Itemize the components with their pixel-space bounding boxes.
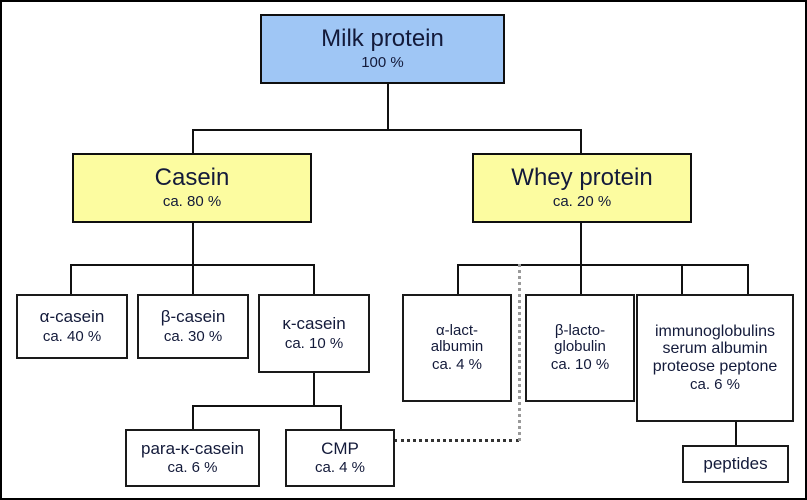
- connector-to-beta-lactoglobulin: [580, 264, 582, 294]
- milk-protein-diagram: Milk protein 100 % Casein ca. 80 % Whey …: [0, 0, 807, 500]
- node-peptides[interactable]: peptides: [682, 445, 789, 483]
- node-para-kappa-casein[interactable]: para-κ-casein ca. 6 %: [125, 429, 260, 487]
- node-beta-lactoglobulin-line2: globulin: [554, 339, 606, 355]
- node-whey-protein-label: Whey protein: [511, 165, 652, 191]
- node-beta-casein[interactable]: β-casein ca. 30 %: [137, 294, 249, 359]
- node-cmp-label: CMP: [321, 440, 359, 458]
- node-whey-protein-percent: ca. 20 %: [553, 194, 611, 210]
- node-alpha-lactalbumin-line2: albumin: [431, 339, 484, 355]
- connector-level2-bus: [192, 129, 582, 131]
- connector-to-para-kappa-casein: [192, 405, 194, 429]
- connector-to-cmp: [340, 405, 342, 429]
- node-whey-protein[interactable]: Whey protein ca. 20 %: [472, 153, 692, 223]
- node-casein-percent: ca. 80 %: [163, 194, 221, 210]
- node-alpha-lactalbumin-percent: ca. 4 %: [432, 357, 482, 373]
- node-alpha-lactalbumin[interactable]: α-lact- albumin ca. 4 %: [402, 294, 512, 402]
- connector-to-alpha-lactalbumin: [457, 264, 459, 294]
- node-kappa-casein-label: κ-casein: [282, 315, 345, 333]
- node-para-kappa-casein-percent: ca. 6 %: [167, 460, 217, 476]
- node-alpha-casein-label: α-casein: [40, 308, 105, 326]
- connector-root-stem: [387, 83, 389, 130]
- connector-to-alpha-casein: [70, 264, 72, 294]
- connector-whey-stem: [580, 222, 582, 265]
- node-immunoglobulins-percent: ca. 6 %: [690, 377, 740, 393]
- node-beta-lactoglobulin[interactable]: β-lacto- globulin ca. 10 %: [525, 294, 635, 402]
- node-immunoglobulins-line1: immunoglobulins: [655, 323, 775, 340]
- node-cmp-percent: ca. 4 %: [315, 460, 365, 476]
- node-immunoglobulins[interactable]: immunoglobulins serum albumin proteose p…: [636, 294, 794, 422]
- node-kappa-casein[interactable]: κ-casein ca. 10 %: [258, 294, 370, 373]
- connector-casein-stem: [192, 222, 194, 265]
- node-immunoglobulins-line2: serum albumin: [663, 340, 768, 357]
- connector-to-casein: [192, 129, 194, 153]
- node-alpha-casein[interactable]: α-casein ca. 40 %: [16, 294, 128, 359]
- node-kappa-casein-percent: ca. 10 %: [285, 336, 343, 352]
- node-casein[interactable]: Casein ca. 80 %: [72, 153, 312, 223]
- connector-whey-bus: [457, 264, 747, 266]
- connector-to-peptides: [735, 422, 737, 446]
- connector-to-whey: [580, 129, 582, 153]
- connector-to-beta-casein: [192, 264, 194, 294]
- connector-kappa-stem: [313, 373, 315, 406]
- node-peptides-label: peptides: [703, 455, 767, 473]
- node-milk-protein-label: Milk protein: [321, 26, 444, 52]
- node-beta-casein-percent: ca. 30 %: [164, 329, 222, 345]
- connector-kappa-bus: [192, 405, 342, 407]
- node-beta-lactoglobulin-line1: β-lacto-: [555, 323, 605, 339]
- node-milk-protein-percent: 100 %: [361, 55, 404, 71]
- node-para-kappa-casein-label: para-κ-casein: [141, 440, 244, 458]
- node-beta-casein-label: β-casein: [161, 308, 226, 326]
- connector-to-immunoglobulins: [681, 264, 683, 294]
- node-milk-protein[interactable]: Milk protein 100 %: [260, 14, 505, 84]
- node-alpha-casein-percent: ca. 40 %: [43, 329, 101, 345]
- node-beta-lactoglobulin-percent: ca. 10 %: [551, 357, 609, 373]
- connector-to-kappa-casein: [313, 264, 315, 294]
- node-alpha-lactalbumin-line1: α-lact-: [436, 323, 478, 339]
- connector-whey-right-edge: [747, 264, 749, 294]
- dotted-connector-cmp-horizontal: [394, 439, 519, 442]
- node-cmp[interactable]: CMP ca. 4 %: [285, 429, 395, 487]
- node-casein-label: Casein: [155, 165, 230, 191]
- dotted-connector-whey-vertical: [518, 264, 521, 441]
- node-immunoglobulins-line3: proteose peptone: [653, 358, 778, 375]
